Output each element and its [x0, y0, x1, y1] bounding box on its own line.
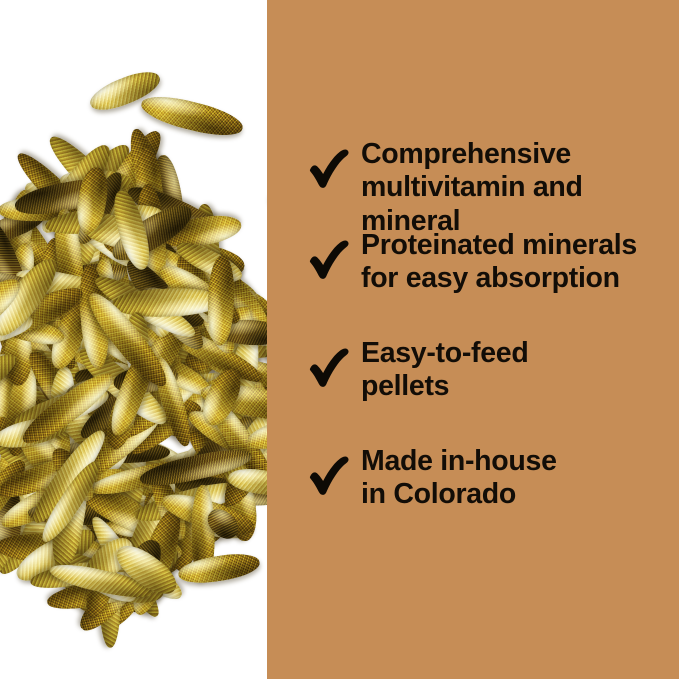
feature-item: Proteinated minerals for easy absorption: [307, 229, 679, 296]
feature-list: Comprehensive multivitamin and mineralPr…: [267, 0, 679, 679]
feature-item-label: Proteinated minerals for easy absorption: [361, 229, 679, 296]
product-feature-graphic: Comprehensive multivitamin and mineralPr…: [0, 0, 679, 679]
feature-item-label: Comprehensive multivitamin and mineral: [361, 138, 679, 238]
check-icon: [307, 144, 353, 190]
feature-item: Comprehensive multivitamin and mineral: [307, 138, 679, 238]
feature-item-label: Made in-house in Colorado: [361, 445, 679, 512]
feature-item-label: Easy-to-feed pellets: [361, 337, 679, 404]
feature-item: Made in-house in Colorado: [307, 445, 679, 512]
check-icon: [307, 235, 353, 281]
feature-item: Easy-to-feed pellets: [307, 337, 679, 404]
feature-panel: Comprehensive multivitamin and mineralPr…: [267, 0, 679, 679]
check-icon: [307, 451, 353, 497]
product-photo-panel: [0, 0, 267, 679]
check-icon: [307, 343, 353, 389]
